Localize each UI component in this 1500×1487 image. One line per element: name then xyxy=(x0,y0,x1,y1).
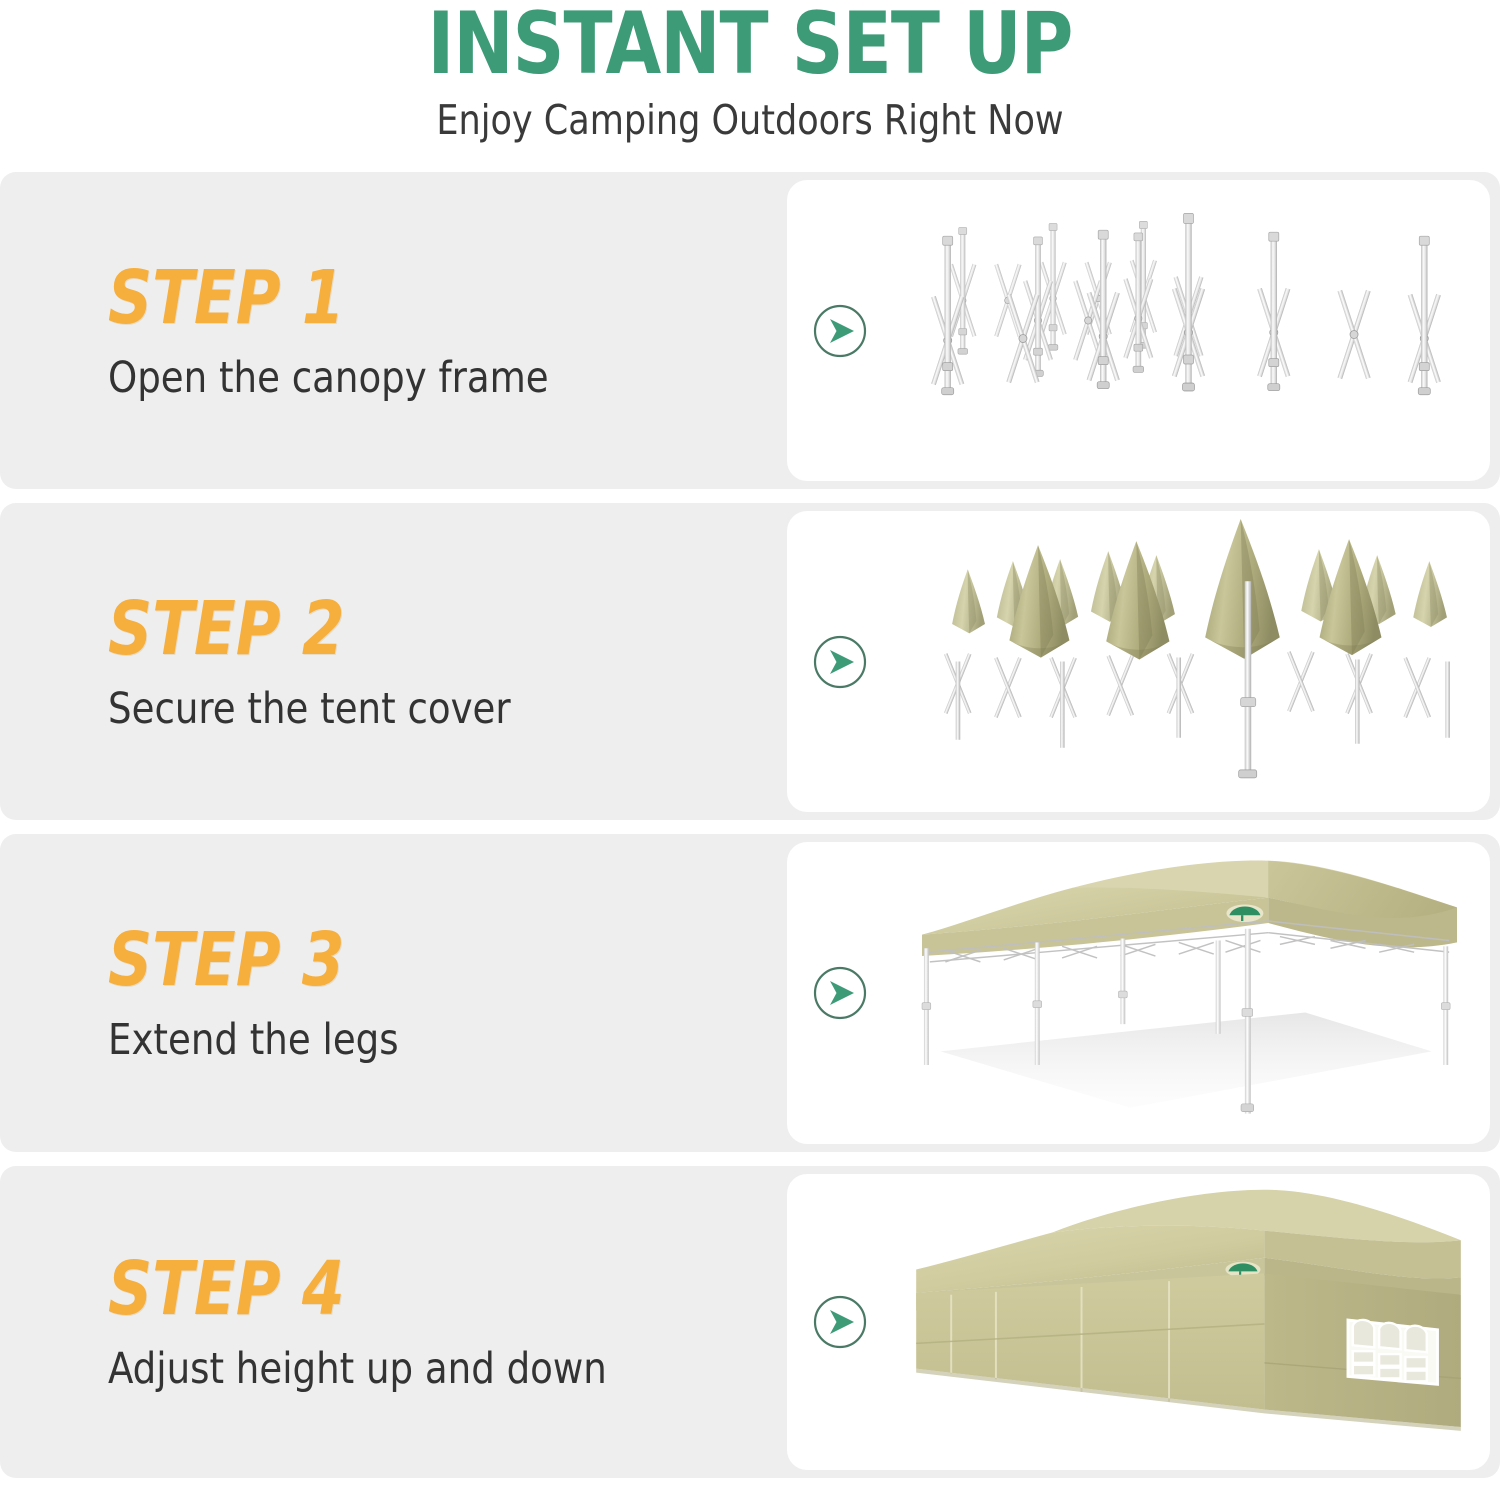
step-1-image-card xyxy=(787,180,1490,481)
step-4-description: Adjust height up and down xyxy=(108,1343,722,1395)
step-1-description: Open the canopy frame xyxy=(108,352,722,404)
step-2-description: Secure the tent cover xyxy=(108,683,722,735)
tent-cover-illustration xyxy=(887,511,1490,812)
arrow-right-circle-icon xyxy=(813,635,867,689)
arrow-right-circle-icon xyxy=(813,304,867,358)
step-4-text-block: STEP 4 Adjust height up and down xyxy=(108,1249,748,1395)
header: INSTANT SET UP Enjoy Camping Outdoors Ri… xyxy=(0,0,1500,168)
canopy-sidewalls-illustration xyxy=(887,1174,1490,1470)
tent-window xyxy=(1348,1320,1437,1384)
step-1-label: STEP 1 xyxy=(108,258,697,338)
page-subtitle: Enjoy Camping Outdoors Right Now xyxy=(38,96,1463,144)
canopy-erected-illustration xyxy=(887,842,1490,1144)
step-row-3: STEP 3 Extend the legs xyxy=(0,834,1500,1152)
instant-setup-infographic: INSTANT SET UP Enjoy Camping Outdoors Ri… xyxy=(0,0,1500,1487)
arrow-right-circle-icon xyxy=(813,966,867,1020)
page-title: INSTANT SET UP xyxy=(53,0,1448,92)
step-4-label: STEP 4 xyxy=(108,1249,697,1329)
step-1-text-block: STEP 1 Open the canopy frame xyxy=(108,258,748,404)
step-row-1: STEP 1 Open the canopy frame xyxy=(0,172,1500,489)
step-2-image-card xyxy=(787,511,1490,812)
step-3-description: Extend the legs xyxy=(108,1014,722,1066)
step-3-label: STEP 3 xyxy=(108,920,697,1000)
step-row-4: STEP 4 Adjust height up and down xyxy=(0,1166,1500,1478)
arrow-right-circle-icon xyxy=(813,1295,867,1349)
step-4-image-card xyxy=(787,1174,1490,1470)
step-2-label: STEP 2 xyxy=(108,589,697,669)
brand-logo xyxy=(1226,904,1263,922)
step-3-image-card xyxy=(787,842,1490,1144)
step-3-text-block: STEP 3 Extend the legs xyxy=(108,920,748,1066)
step-2-text-block: STEP 2 Secure the tent cover xyxy=(108,589,748,735)
step-row-2: STEP 2 Secure the tent cover xyxy=(0,503,1500,820)
canopy-frame-illustration xyxy=(887,180,1490,481)
